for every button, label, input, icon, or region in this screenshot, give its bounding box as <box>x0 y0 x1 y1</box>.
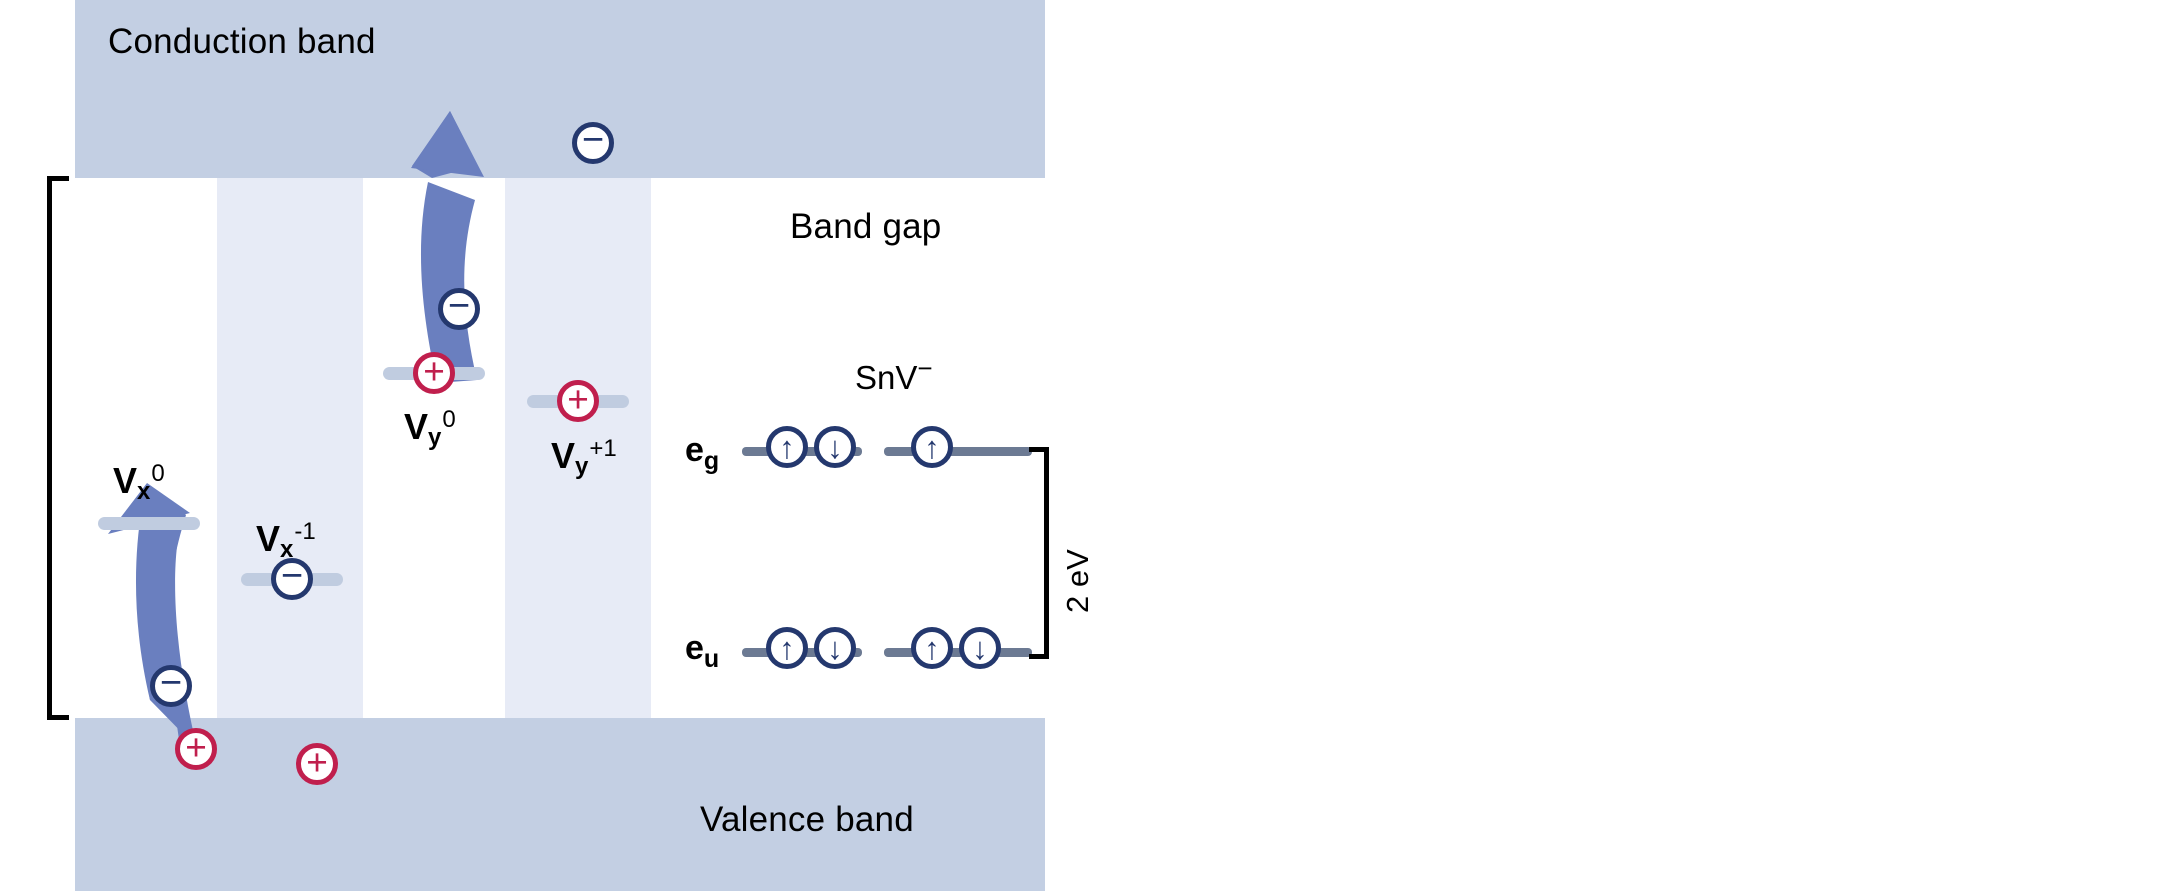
hole-token-valence-band-1: + <box>175 728 217 770</box>
defect-label-vx0-main: V <box>113 460 137 501</box>
arrow-down-icon: ↓ <box>972 633 988 664</box>
defect-label-vy-plus1: Vy+1 <box>551 435 617 481</box>
orbital-line-eu-spin-down <box>884 648 1032 657</box>
defect-label-vx-minus1-main: V <box>256 518 280 559</box>
defect-label-vy-plus1-sup: +1 <box>589 435 616 462</box>
defect-label-vy0-sub: y <box>428 424 441 451</box>
defect-label-vx-minus1-sup: -1 <box>294 518 315 545</box>
orbital-label-eg: eg <box>685 431 719 476</box>
minus-icon: − <box>448 287 470 325</box>
spin-down-arrow-eu-2: ↓ <box>959 627 1001 669</box>
electron-token-conduction-band: − <box>572 122 614 164</box>
plus-icon: + <box>185 729 207 766</box>
arrow-down-icon: ↓ <box>827 432 843 463</box>
defect-label-vy0-sup: 0 <box>442 406 455 433</box>
arrow-up-icon: ↑ <box>779 633 795 664</box>
conduction-band-label: Conduction band <box>108 22 376 62</box>
hole-token-valence-band-2: + <box>296 743 338 785</box>
spin-up-arrow-eg-1: ↑ <box>766 426 808 468</box>
defect-label-vx-minus1: Vx-1 <box>256 518 316 564</box>
plus-icon: + <box>306 744 328 781</box>
snv-splitting-label: 2 eV <box>1060 549 1096 613</box>
snv-title-main: SnV <box>855 359 917 396</box>
snv-splitting-bracket <box>1029 447 1049 659</box>
defect-label-vy-plus1-sub: y <box>575 453 588 480</box>
plus-icon: + <box>567 381 589 418</box>
hole-token-vy0: + <box>413 352 455 394</box>
orbital-label-eg-sub: g <box>704 447 719 475</box>
orbital-label-eu: eu <box>685 629 719 674</box>
spin-down-arrow-eu-1: ↓ <box>814 627 856 669</box>
spin-up-arrow-eu-2: ↑ <box>911 627 953 669</box>
orbital-label-eu-main: e <box>685 629 704 667</box>
defect-label-vy0-main: V <box>404 406 428 447</box>
defect-label-vx-minus1-sub: x <box>280 536 293 563</box>
orbital-label-eg-main: e <box>685 431 704 469</box>
band-gap-label: Band gap <box>790 207 941 247</box>
snv-title: SnV− <box>855 353 933 397</box>
defect-level-bar-vx0 <box>98 517 200 530</box>
defect-label-vy-plus1-main: V <box>551 435 575 476</box>
defect-label-vx0-sub: x <box>137 478 150 505</box>
band-diagram-figure: Conduction band Valence band Band gap 5.… <box>0 0 2174 891</box>
hole-token-vy-plus1: + <box>557 380 599 422</box>
spin-up-arrow-eu-1: ↑ <box>766 627 808 669</box>
arrow-up-icon: ↑ <box>924 633 940 664</box>
defect-label-vx0-sup: 0 <box>151 460 164 487</box>
spin-up-arrow-eg-2: ↑ <box>911 426 953 468</box>
minus-icon: − <box>582 121 604 159</box>
orbital-line-eg-spin-down <box>884 447 1032 456</box>
plus-icon: + <box>423 353 445 390</box>
defect-column-stripe-vx-minus1 <box>217 178 363 718</box>
valence-band-label: Valence band <box>700 800 914 840</box>
arrow-down-icon: ↓ <box>827 633 843 664</box>
arrow-up-icon: ↑ <box>924 432 940 463</box>
arrow-up-icon: ↑ <box>779 432 795 463</box>
snv-title-charge: − <box>917 353 932 383</box>
minus-icon: − <box>160 664 182 702</box>
orbital-label-eu-sub: u <box>704 645 719 673</box>
defect-label-vy0: Vy0 <box>404 406 456 452</box>
spin-down-arrow-eg-1: ↓ <box>814 426 856 468</box>
electron-token-vy0-excited: − <box>438 288 480 330</box>
electron-token-vx-minus1: − <box>271 558 313 600</box>
defect-label-vx0: Vx0 <box>113 460 165 506</box>
band-gap-bracket <box>47 176 69 720</box>
electron-token-valence-excitation: − <box>150 665 192 707</box>
